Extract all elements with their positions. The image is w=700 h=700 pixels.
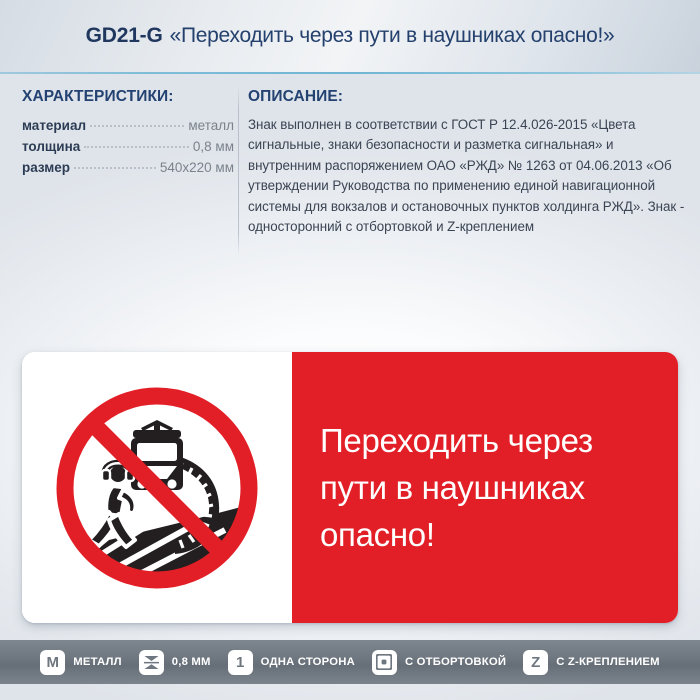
- sign-text-line-2: пути в наушниках: [320, 464, 656, 511]
- spec-value: 540х220 мм: [160, 157, 234, 178]
- metal-badge-icon: M: [40, 650, 65, 675]
- footer-item-thickness: 0,8 ММ: [139, 650, 228, 675]
- spec-row-thickness: толщина 0,8 мм: [22, 136, 234, 157]
- z-mount-badge-icon: Z: [523, 650, 548, 675]
- footer-item-edge: С ОТБОРТОВКОЙ: [372, 650, 523, 675]
- one-side-badge-icon: 1: [228, 650, 253, 675]
- spec-row-material: материал металл: [22, 115, 234, 136]
- spec-label: материал: [22, 115, 86, 136]
- product-spec-page: GD21-G «Переходить через пути в наушника…: [0, 0, 700, 700]
- footer-item-material: M МЕТАЛЛ: [40, 650, 138, 675]
- footer-item-mount: Z С Z-КРЕПЛЕНИЕМ: [523, 650, 660, 675]
- sign-text-panel: Переходить через пути в наушниках опасно…: [292, 352, 678, 623]
- flanged-edge-icon: [372, 650, 397, 675]
- characteristics-heading: ХАРАКТЕРИСТИКИ:: [22, 88, 234, 106]
- footer-label-edge: С ОТБОРТОВКОЙ: [405, 656, 506, 668]
- sign-preview-card: Переходить через пути в наушниках опасно…: [22, 352, 678, 623]
- page-header: GD21-G «Переходить через пути в наушника…: [0, 0, 700, 72]
- dot-leader: [90, 125, 184, 127]
- description-heading: ОПИСАНИЕ:: [248, 88, 688, 106]
- header-title-group: GD21-G «Переходить через пути в наушника…: [0, 0, 700, 72]
- spec-label: размер: [22, 157, 70, 178]
- column-divider: [238, 86, 239, 256]
- sign-pictogram-area: [22, 352, 292, 623]
- product-code: GD21-G: [86, 24, 163, 48]
- spec-value: металл: [188, 115, 234, 136]
- spec-value: 0,8 мм: [193, 136, 234, 157]
- footer-label-thickness: 0,8 ММ: [172, 656, 211, 668]
- header-divider-rule: [0, 72, 700, 74]
- sign-text-line-1: Переходить через: [320, 417, 656, 464]
- characteristics-section: ХАРАКТЕРИСТИКИ: материал металл толщина …: [22, 88, 234, 178]
- footer-attributes-bar: M МЕТАЛЛ 0,8 ММ 1 ОДНА СТОРОНА: [0, 640, 700, 684]
- footer-label-sides: ОДНА СТОРОНА: [261, 656, 355, 668]
- footer-label-mount: С Z-КРЕПЛЕНИЕМ: [556, 656, 660, 668]
- description-section: ОПИСАНИЕ: Знак выполнен в соответствии с…: [248, 88, 688, 237]
- spec-row-size: размер 540х220 мм: [22, 157, 234, 178]
- spec-label: толщина: [22, 136, 80, 157]
- no-crossing-tracks-with-headphones-pictogram: [49, 380, 265, 596]
- page-title: «Переходить через пути в наушниках опасн…: [170, 24, 615, 48]
- dot-leader: [84, 146, 189, 148]
- sign-text-line-3: опасно!: [320, 511, 656, 558]
- description-body: Знак выполнен в соответствии с ГОСТ Р 12…: [248, 115, 688, 237]
- thickness-caliper-icon: [139, 650, 164, 675]
- footer-item-sides: 1 ОДНА СТОРОНА: [228, 650, 372, 675]
- dot-leader: [74, 167, 156, 169]
- footer-label-material: МЕТАЛЛ: [73, 656, 121, 668]
